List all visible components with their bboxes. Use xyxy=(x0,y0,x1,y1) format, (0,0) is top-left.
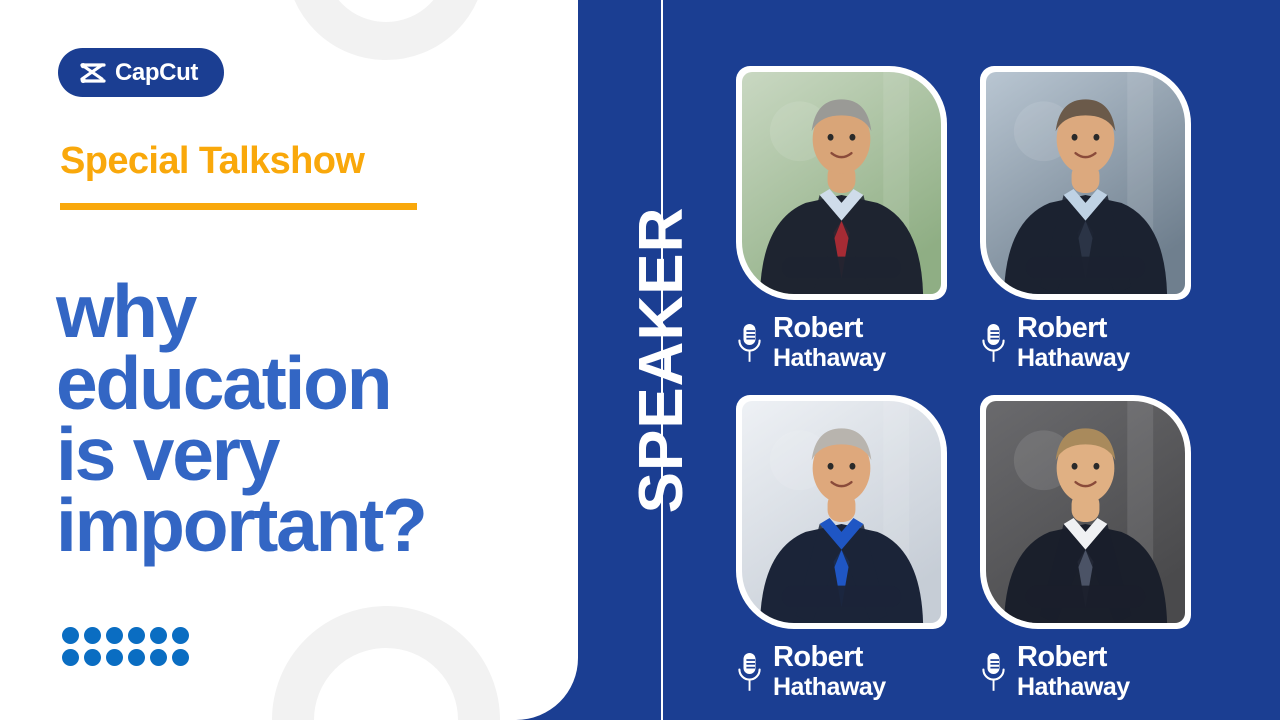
capcut-hourglass-icon xyxy=(80,63,106,83)
kicker-underline xyxy=(60,203,417,210)
speaker-photo-frame xyxy=(980,66,1191,300)
decorative-dot xyxy=(172,649,189,666)
decorative-dot xyxy=(62,627,79,644)
speaker-name-row: Robert Hathaway xyxy=(736,314,947,371)
speaker-card-3[interactable]: Robert Hathaway xyxy=(736,395,947,700)
speaker-last-name: Hathaway xyxy=(1017,675,1130,700)
speaker-first-name: Robert xyxy=(773,643,886,672)
decorative-dot xyxy=(106,627,123,644)
portrait-illustration xyxy=(986,72,1185,294)
speaker-name: Robert Hathaway xyxy=(773,314,886,371)
speaker-first-name: Robert xyxy=(1017,643,1130,672)
decorative-dot xyxy=(84,627,101,644)
decorative-ring-bottom xyxy=(272,606,500,720)
microphone-icon xyxy=(980,323,1007,363)
speaker-name-row: Robert Hathaway xyxy=(980,643,1191,700)
speaker-photo-3 xyxy=(742,401,941,623)
speaker-photo-4 xyxy=(986,401,1185,623)
speaker-photo-2 xyxy=(986,72,1185,294)
speaker-card-4[interactable]: Robert Hathaway xyxy=(980,395,1191,700)
speaker-photo-1 xyxy=(742,72,941,294)
microphone-icon xyxy=(736,323,763,363)
microphone-icon xyxy=(736,652,763,692)
decorative-ring-top xyxy=(286,0,486,60)
speaker-first-name: Robert xyxy=(773,314,886,343)
speaker-photo-frame xyxy=(736,395,947,629)
speaker-name: Robert Hathaway xyxy=(773,643,886,700)
speaker-card-1[interactable]: Robert Hathaway xyxy=(736,66,947,371)
headline-line-4: important? xyxy=(56,490,556,561)
portrait-illustration xyxy=(742,401,941,623)
decorative-dot xyxy=(128,627,145,644)
speaker-first-name: Robert xyxy=(1017,314,1130,343)
speaker-card-2[interactable]: Robert Hathaway xyxy=(980,66,1191,371)
decorative-dot xyxy=(84,649,101,666)
headline-line-2: education xyxy=(56,348,556,419)
capcut-logo-badge[interactable]: CapCut xyxy=(58,48,224,97)
speaker-name: Robert Hathaway xyxy=(1017,643,1130,700)
speaker-photo-frame xyxy=(980,395,1191,629)
speaker-photo-frame xyxy=(736,66,947,300)
decorative-dot xyxy=(150,627,167,644)
speaker-name-row: Robert Hathaway xyxy=(736,643,947,700)
portrait-illustration xyxy=(986,401,1185,623)
decorative-dot xyxy=(62,649,79,666)
speaker-name: Robert Hathaway xyxy=(1017,314,1130,371)
microphone-icon xyxy=(980,652,1007,692)
speaker-last-name: Hathaway xyxy=(1017,346,1130,371)
decorative-dot xyxy=(172,627,189,644)
portrait-illustration xyxy=(742,72,941,294)
capcut-logo-wordmark: CapCut xyxy=(115,61,198,85)
decorative-dot xyxy=(150,649,167,666)
decorative-dot-grid xyxy=(62,627,189,666)
speaker-last-name: Hathaway xyxy=(773,346,886,371)
headline-line-1: why xyxy=(56,276,556,347)
decorative-dot xyxy=(106,649,123,666)
headline-line-3: is very xyxy=(56,419,556,490)
page-title: why education is very important? xyxy=(56,276,556,561)
speaker-last-name: Hathaway xyxy=(773,675,886,700)
speaker-section-label: SPEAKER xyxy=(631,207,693,514)
decorative-dot xyxy=(128,649,145,666)
kicker-text: Special Talkshow xyxy=(60,142,364,180)
speaker-card-grid: Robert Hathaway xyxy=(736,66,1200,700)
speaker-name-row: Robert Hathaway xyxy=(980,314,1191,371)
speaker-poster: CapCut Special Talkshow why education is… xyxy=(0,0,1280,720)
